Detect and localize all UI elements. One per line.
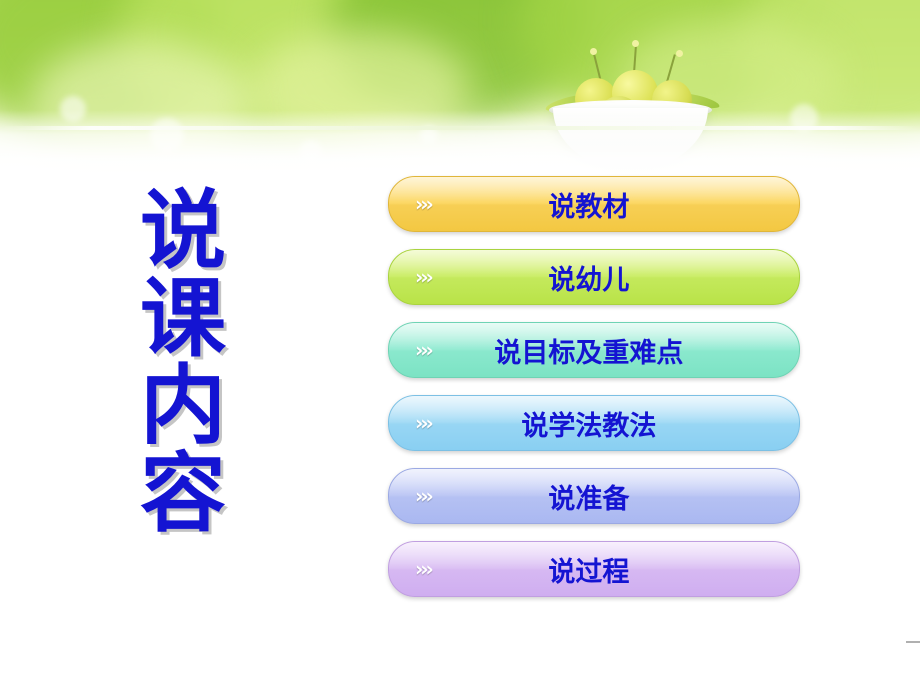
page-title: 说 课 内 容 [140,188,270,539]
list-item-label: 说过程 [431,550,747,589]
chevron-double-right-icon: ››› [415,557,431,581]
page-title-char: 课 [140,276,270,364]
list-item-shuo-jiao-cai[interactable]: ››› 说教材 [388,176,800,232]
page-title-char: 容 [140,451,270,539]
list-item-label: 说教材 [431,185,747,224]
chevron-double-right-icon: ››› [415,265,431,289]
chevron-double-right-icon: ››› [415,484,431,508]
list-item-shuo-zhun-bei[interactable]: ››› 说准备 [388,468,800,524]
header-photo-band [0,0,920,180]
page-title-char: 内 [140,363,270,451]
list-item-label: 说准备 [431,477,747,516]
list-item-shuo-guo-cheng[interactable]: ››› 说过程 [388,541,800,597]
fruit-bud [632,40,639,47]
list-item-label: 说学法教法 [431,404,747,443]
fruit-bud [590,48,597,55]
page-title-char: 说 [140,188,270,276]
list-item-shuo-xue-fa[interactable]: ››› 说学法教法 [388,395,800,451]
slide-canvas: 说 课 内 容 ››› 说教材 ››› 说幼儿 ››› 说目标及重难点 ››› … [0,0,920,690]
list-item-label: 说幼儿 [431,258,747,297]
content-list: ››› 说教材 ››› 说幼儿 ››› 说目标及重难点 ››› 说学法教法 ››… [388,176,800,614]
list-item-label: 说目标及重难点 [431,331,747,370]
list-item-shuo-you-er[interactable]: ››› 说幼儿 [388,249,800,305]
table-ledge-line [0,126,920,130]
list-item-shuo-mu-biao[interactable]: ››› 说目标及重难点 [388,322,800,378]
fruit-bud [676,50,683,57]
corner-mark [906,641,920,643]
chevron-double-right-icon: ››› [415,411,431,435]
chevron-double-right-icon: ››› [415,338,431,362]
chevron-double-right-icon: ››› [415,192,431,216]
light-gradient-overlay [0,110,920,180]
